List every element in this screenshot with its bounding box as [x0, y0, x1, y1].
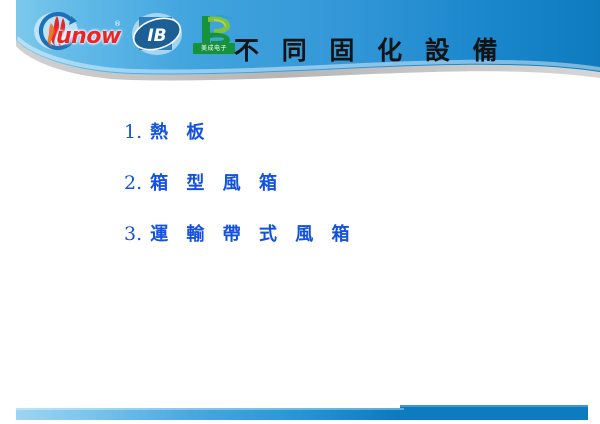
footer-bar-right — [400, 405, 588, 420]
unow-logo: unow ® — [30, 12, 124, 56]
list-item: 2. 箱 型 風 箱 — [124, 169, 544, 195]
unow-wordmark: unow — [56, 24, 121, 49]
meicheng-logo: 美成电子 — [190, 11, 238, 57]
logo-row: unow ® IB 美成 — [30, 8, 238, 60]
meicheng-chinese-label: 美成电子 — [193, 43, 235, 54]
list-item-label: 運 輸 帶 式 風 箱 — [150, 220, 355, 246]
ib-logo: IB — [131, 12, 183, 56]
svg-text:IB: IB — [147, 26, 166, 46]
unow-registered-mark-icon: ® — [114, 20, 121, 28]
list-item: 1. 熱 板 — [124, 118, 544, 144]
list-item-label: 箱 型 風 箱 — [150, 169, 283, 195]
list-item-number: 1. — [124, 121, 142, 143]
list-item-number: 3. — [124, 223, 142, 245]
list-item-label: 熱 板 — [150, 118, 210, 144]
list-item-number: 2. — [124, 172, 142, 194]
footer-bar — [0, 400, 600, 424]
content-list: 1. 熱 板 2. 箱 型 風 箱 3. 運 輸 帶 式 風 箱 — [124, 118, 544, 271]
page-title: 不 同 固 化 設 備 — [234, 38, 505, 63]
ib-mark-icon: IB — [131, 12, 183, 56]
list-item: 3. 運 輸 帶 式 風 箱 — [124, 220, 544, 246]
footer-bar-highlight — [16, 408, 404, 410]
slide: unow ® IB 美成 — [0, 0, 600, 424]
footer-bar-highlight-right — [400, 405, 588, 407]
